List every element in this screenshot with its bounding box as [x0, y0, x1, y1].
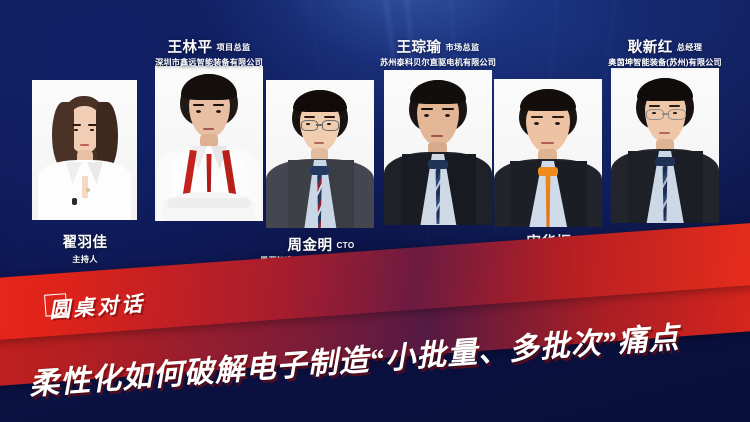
speaker-photo [611, 68, 719, 223]
speaker-label: 王林平项目总监 深圳市鑫远智能装备有限公司 [148, 36, 270, 67]
speaker-title: 市场总监 [446, 41, 480, 53]
speaker-photo [494, 79, 602, 227]
speaker-name: 王林平 [168, 36, 213, 57]
speaker-photo [266, 80, 374, 228]
speaker-title: 总经理 [677, 41, 702, 53]
speaker-label: 王琮瑜市场总监 苏州泰科贝尔直驱电机有限公司 [377, 36, 499, 67]
speaker-company: 苏州泰科贝尔直驱电机有限公司 [377, 58, 499, 67]
poster-stage: 王林平项目总监 深圳市鑫远智能装备有限公司 王琮瑜市场总监 苏州泰科贝尔直驱电机… [0, 0, 750, 422]
speaker-photo [384, 70, 492, 225]
speaker-label: 翟羽佳 主持人 [26, 231, 144, 265]
speaker-company: 奥茵坤智能装备(苏州)有限公司 [597, 58, 733, 67]
speaker-name: 王琮瑜 [397, 36, 442, 57]
bottom-banner: 圆桌对话 柔性化如何破解电子制造“小批量、多批次”痛点 [0, 262, 750, 422]
speaker-photo [32, 80, 137, 220]
speaker-name: 翟羽佳 [63, 231, 108, 252]
speaker-label: 耿新红总经理 奥茵坤智能装备(苏州)有限公司 [597, 36, 733, 67]
tag-frame-icon [44, 293, 68, 317]
speaker-company: 深圳市鑫远智能装备有限公司 [148, 58, 270, 67]
speaker-title: CTO [336, 241, 354, 250]
speaker-photo [155, 66, 263, 221]
speaker-name: 耿新红 [628, 36, 673, 57]
speaker-title: 项目总监 [217, 41, 251, 53]
speaker-name: 周金明 [287, 234, 332, 255]
